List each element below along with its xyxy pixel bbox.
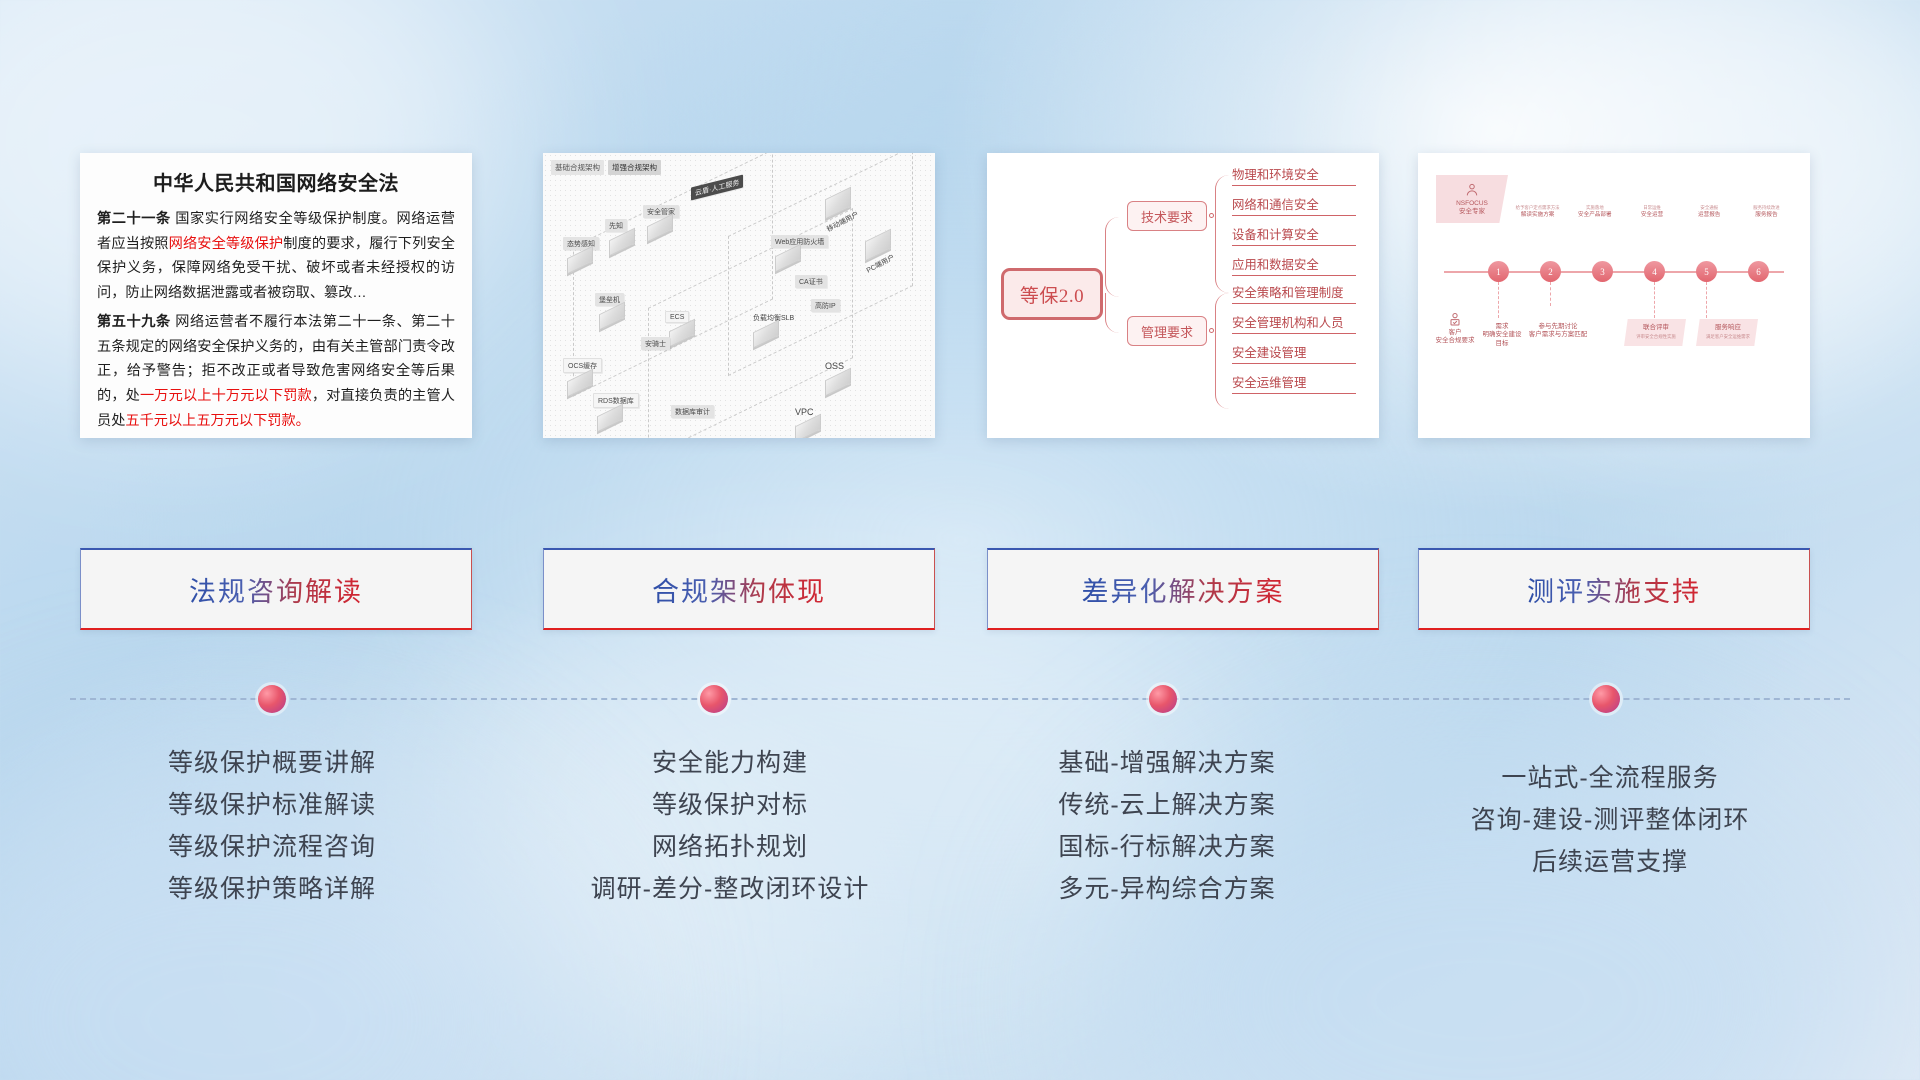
- mindmap-branch-technical: 技术要求: [1127, 201, 1207, 231]
- arch-chip-anqishi: 安骑士: [641, 337, 670, 350]
- detail-column-2: 安全能力构建 等级保护对标 网络拓扑规划 调研-差分-整改闭环设计: [515, 742, 945, 910]
- nsfocus-dash-4: [1706, 282, 1707, 318]
- arch-node-shishiganzhi: 态势感知: [563, 237, 599, 268]
- nsfocus-dash-1: [1498, 282, 1499, 318]
- mindmap-root-node: 等保2.0: [1001, 268, 1103, 320]
- detail-column-3: 基础-增强解决方案 传统-云上解决方案 国标-行标解决方案 多元-异构综合方案: [952, 742, 1382, 910]
- arch-chip-ca: CA证书: [795, 275, 827, 288]
- person-expert-icon: [1464, 182, 1480, 198]
- arch-node-ca: CA证书: [795, 275, 827, 288]
- label-text-3: 差异化解决方案: [1082, 570, 1285, 609]
- mindmap-leaf-mgmt-4: 安全运维管理: [1232, 373, 1356, 394]
- timeline-dashed-line: [70, 698, 1850, 700]
- mindmap-curve-bottom: [1105, 293, 1129, 333]
- nsfocus-step-6: 6: [1748, 261, 1769, 282]
- detail-column-4: 一站式-全流程服务 咨询-建设-测评整体闭环 后续运营支撑: [1395, 757, 1825, 883]
- mindmap-spine-mgmt-lower: [1215, 331, 1231, 409]
- mindmap-spine-tech-lower: [1215, 215, 1231, 293]
- law-article-label-2: 第五十九条: [97, 314, 171, 330]
- arch-node-vpc: VPC: [791, 405, 821, 436]
- label-row: 法规咨询解读 合规架构体现 差异化解决方案 测评实施支持: [0, 548, 1920, 648]
- list-item: 后续运营支撑: [1395, 841, 1825, 883]
- law-paragraph-1: 第二十一条 国家实行网络安全等级保护制度。网络运营者应当按照网络安全等级保护制度…: [97, 207, 455, 305]
- nsfocus-dash-3: [1654, 282, 1655, 318]
- arch-node-xianzhi: 先知: [605, 219, 635, 250]
- arch-chip-xianzhi: 先知: [605, 219, 627, 232]
- slide-stage: 中华人民共和国网络安全法 第二十一条 国家实行网络安全等级保护制度。网络运营者应…: [0, 0, 1920, 1080]
- nsfocus-bottom-sub-3: 客户需求与方案匹配: [1526, 331, 1590, 339]
- arch-node-cloudshield: 云盾·人工服务: [691, 181, 743, 194]
- mindmap-card: 等保2.0 技术要求 管理要求 物理和环境安全 网络和通信安全 设备和计算安全 …: [987, 153, 1379, 438]
- arch-node-oss: OSS: [821, 359, 851, 390]
- nsfocus-bottom-sub-1: 安全合规要求: [1432, 337, 1478, 345]
- timeline-node-4[interactable]: [1592, 685, 1620, 713]
- list-item: 多元-异构综合方案: [952, 868, 1382, 910]
- nsfocus-step-5: 5: [1696, 261, 1717, 282]
- arch-chip-shishiganzhi: 态势感知: [563, 237, 599, 250]
- nsfocus-need: 需求 明确安全建设目标: [1480, 323, 1524, 348]
- nsfocus-bottom-main-5: 服务响应: [1715, 324, 1741, 331]
- law-seg-2-1-highlight: 一万元以上十万元以下罚款: [140, 388, 312, 404]
- detail-column-1: 等级保护概要讲解 等级保护标准解读 等级保护流程咨询 等级保护策略详解: [57, 742, 487, 910]
- nsfocus-top-main-2: 安全产品部署: [1578, 212, 1612, 219]
- label-text-1: 法规咨询解读: [189, 570, 363, 609]
- arch-node-anquanguanjia: 安全管家: [643, 205, 679, 236]
- arch-node-ocs: OCS缓存: [563, 358, 602, 391]
- arch-node-anqishi: 安骑士: [641, 337, 670, 350]
- nsfocus-dash-2: [1550, 282, 1551, 306]
- architecture-tab-basic[interactable]: 基础合规架构: [551, 160, 604, 175]
- mindmap-leaf-mgmt-2: 安全管理机构和人员: [1232, 313, 1356, 334]
- mindmap-collapse-dot-technical[interactable]: [1209, 213, 1214, 218]
- nsfocus-brand-sub: 安全专家: [1459, 208, 1485, 216]
- nsfocus-top-cell-2: 实施落地 安全产品部署: [1567, 175, 1622, 223]
- mindmap-diagram: 等保2.0 技术要求 管理要求 物理和环境安全 网络和通信安全 设备和计算安全 …: [987, 153, 1379, 438]
- arch-node-waf: Web应用防火墙: [771, 235, 828, 266]
- timeline-node-1[interactable]: [258, 685, 286, 713]
- nsfocus-step-4: 4: [1644, 261, 1665, 282]
- list-item: 等级保护概要讲解: [57, 742, 487, 784]
- mindmap-leaf-tech-1: 物理和环境安全: [1232, 165, 1356, 186]
- nsfocus-top-cell-4: 安全通报 运营报告: [1682, 175, 1737, 223]
- nsfocus-top-cell-3: 日常运维 安全运营: [1624, 175, 1679, 223]
- nsfocus-brand-badge: NSFOCUS 安全专家: [1436, 175, 1508, 223]
- arch-node-dbaudit: 数据库审计: [671, 405, 714, 418]
- label-text-4: 测评实施支持: [1527, 570, 1701, 609]
- nsfocus-bottom-sub-2: 明确安全建设目标: [1480, 331, 1524, 348]
- nsfocus-top-sub-2: 实施落地: [1586, 205, 1604, 211]
- list-item: 国标-行标解决方案: [952, 826, 1382, 868]
- person-customer-icon: [1447, 311, 1463, 327]
- arch-chip-ocs: OCS缓存: [563, 358, 602, 373]
- law-seg-2-3-highlight: 五千元以上五万元以下罚款。: [125, 413, 309, 429]
- arch-chip-anquanguanjia: 安全管家: [643, 205, 679, 218]
- list-item: 咨询-建设-测评整体闭环: [1395, 799, 1825, 841]
- timeline-node-2[interactable]: [700, 685, 728, 713]
- mindmap-branch-management: 管理要求: [1127, 316, 1207, 346]
- nsfocus-early-discussion: 参与先期讨论 客户需求与方案匹配: [1526, 323, 1590, 340]
- label-text-2: 合规架构体现: [652, 570, 826, 609]
- mindmap-leaf-tech-3: 设备和计算安全: [1232, 225, 1356, 246]
- nsfocus-joint-review: 联合评审 评审安全合规性实施: [1624, 319, 1686, 346]
- mindmap-leaf-mgmt-1: 安全策略和管理制度: [1232, 283, 1356, 304]
- nsfocus-top-sub-3: 日常运维: [1643, 205, 1661, 211]
- arch-chip-gaofangip: 高防IP: [811, 299, 840, 312]
- architecture-diagram: 基础合规架构 增强合规架构 云盾·人工服务 安全管家 先知: [543, 153, 935, 438]
- nsfocus-diagram: NSFOCUS 安全专家 给予客户定点需求方法 解读实施方案 实施落地 安全产品…: [1418, 153, 1810, 438]
- nsfocus-top-sub-1: 给予客户定点需求方法: [1516, 205, 1560, 211]
- label-box-differentiated-solution[interactable]: 差异化解决方案: [987, 548, 1379, 630]
- mindmap-leaf-mgmt-3: 安全建设管理: [1232, 343, 1356, 364]
- nsfocus-top-sub-5: 服务持续改进: [1753, 205, 1779, 211]
- list-item: 等级保护标准解读: [57, 784, 487, 826]
- list-item: 调研-差分-整改闭环设计: [515, 868, 945, 910]
- arch-chip-ecs: ECS: [665, 311, 689, 323]
- list-item: 传统-云上解决方案: [952, 784, 1382, 826]
- nsfocus-step-3: 3: [1592, 261, 1613, 282]
- list-item: 等级保护策略详解: [57, 868, 487, 910]
- nsfocus-top-sub-4: 安全通报: [1700, 205, 1718, 211]
- architecture-tab-enhanced[interactable]: 增强合规架构: [608, 160, 661, 175]
- timeline-node-3[interactable]: [1149, 685, 1177, 713]
- nsfocus-brand-name: NSFOCUS: [1456, 200, 1488, 208]
- arch-node-slb: 负载均衡SLB: [749, 311, 798, 342]
- nsfocus-top-main-3: 安全运营: [1641, 212, 1663, 219]
- nsfocus-bottom-sub-5: 满足客户安全运维需求: [1704, 334, 1752, 340]
- law-seg-1-1-highlight: 网络安全等级保护: [169, 236, 284, 252]
- nsfocus-top-main-4: 运营报告: [1698, 212, 1720, 219]
- list-item: 基础-增强解决方案: [952, 742, 1382, 784]
- list-item: 等级保护流程咨询: [57, 826, 487, 868]
- arch-node-baoleiji: 堡垒机: [595, 293, 625, 324]
- nsfocus-step-1: 1: [1488, 261, 1509, 282]
- nsfocus-top-band: NSFOCUS 安全专家 给予客户定点需求方法 解读实施方案 实施落地 安全产品…: [1436, 175, 1794, 223]
- nsfocus-step-2: 2: [1540, 261, 1561, 282]
- label-box-compliance-architecture[interactable]: 合规架构体现: [543, 548, 935, 630]
- nsfocus-bottom-main-4: 联合评审: [1643, 324, 1669, 331]
- label-box-assessment-support[interactable]: 测评实施支持: [1418, 548, 1810, 630]
- law-article-label-1: 第二十一条: [97, 211, 171, 227]
- arch-node-pc: PC端用户: [861, 233, 900, 270]
- list-item: 安全能力构建: [515, 742, 945, 784]
- list-item: 一站式-全流程服务: [1395, 757, 1825, 799]
- mindmap-curve-top: [1105, 217, 1129, 297]
- law-card-title: 中华人民共和国网络安全法: [97, 167, 455, 196]
- mindmap-leaf-tech-4: 应用和数据安全: [1232, 255, 1356, 276]
- architecture-card: 基础合规架构 增强合规架构 云盾·人工服务 安全管家 先知: [543, 153, 935, 438]
- law-paragraph-2: 第五十九条 网络运营者不履行本法第二十一条、第二十五条规定的网络安全保护义务的，…: [97, 310, 455, 433]
- mindmap-collapse-dot-management[interactable]: [1209, 328, 1214, 333]
- nsfocus-top-main-5: 服务报告: [1755, 212, 1777, 219]
- nsfocus-top-main-1: 解读实施方案: [1521, 212, 1555, 219]
- nsfocus-person-customer: 客户 安全合规要求: [1432, 311, 1478, 346]
- arch-node-mobile: 移动端用户: [821, 191, 864, 228]
- arch-node-gaofangip: 高防IP: [811, 299, 840, 312]
- arch-node-rds: RDS数据库: [593, 393, 639, 426]
- image-card-row: 中华人民共和国网络安全法 第二十一条 国家实行网络安全等级保护制度。网络运营者应…: [0, 0, 1920, 440]
- label-box-regulation-consulting[interactable]: 法规咨询解读: [80, 548, 472, 630]
- law-card-body: 中华人民共和国网络安全法 第二十一条 国家实行网络安全等级保护制度。网络运营者应…: [80, 153, 472, 438]
- nsfocus-top-cell-1: 给予客户定点需求方法 解读实施方案: [1510, 175, 1565, 223]
- nsfocus-service-response: 服务响应 满足客户安全运维需求: [1696, 319, 1758, 346]
- law-card: 中华人民共和国网络安全法 第二十一条 国家实行网络安全等级保护制度。网络运营者应…: [80, 153, 472, 438]
- arch-chip-dbaudit: 数据库审计: [671, 405, 714, 418]
- list-item: 网络拓扑规划: [515, 826, 945, 868]
- nsfocus-card: NSFOCUS 安全专家 给予客户定点需求方法 解读实施方案 实施落地 安全产品…: [1418, 153, 1810, 438]
- nsfocus-top-cell-5: 服务持续改进 服务报告: [1739, 175, 1794, 223]
- architecture-tab-row: 基础合规架构 增强合规架构: [551, 160, 661, 175]
- mindmap-leaf-tech-2: 网络和通信安全: [1232, 195, 1356, 216]
- list-item: 等级保护对标: [515, 784, 945, 826]
- nsfocus-bottom-sub-4: 评审安全合规性实施: [1632, 334, 1680, 340]
